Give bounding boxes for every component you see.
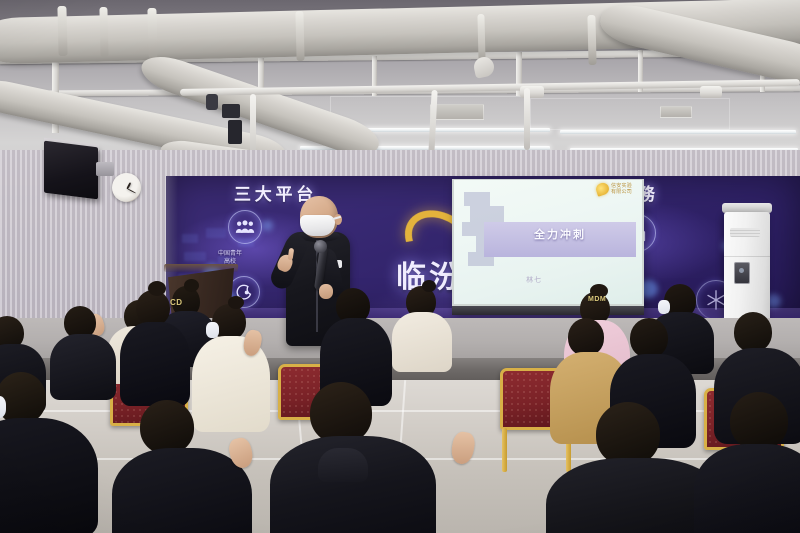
microphone-icon	[314, 240, 327, 253]
ac-grill	[730, 228, 760, 237]
screen-canvas: 全力冲刺 林七 信安实验 有限公司	[454, 180, 642, 304]
tech-pattern	[184, 252, 206, 261]
logo-mark-icon	[594, 182, 610, 197]
ceiling-grid	[530, 98, 730, 130]
vent-box	[660, 106, 692, 118]
vent-box	[430, 104, 484, 120]
attendee-torso	[50, 334, 116, 400]
attendee-torso	[694, 444, 800, 533]
wall-clock	[112, 173, 141, 202]
attendee-head	[630, 318, 668, 358]
duct-flange	[295, 11, 304, 61]
tech-pattern	[182, 234, 198, 243]
attendee-head	[310, 382, 372, 444]
attendee-head	[568, 318, 604, 356]
logo-text: 信安实验 有限公司	[611, 183, 632, 196]
duct-flange	[587, 15, 596, 65]
jacket-hood	[318, 448, 368, 482]
face-mask-icon	[206, 322, 219, 338]
duct-flange	[477, 14, 485, 62]
conference-hall-photo: 三大平台 三項核心服務 中国青年 高校 中国青年 工程 临汾	[0, 0, 800, 533]
face-mask-icon	[300, 215, 335, 236]
small-ceiling-device	[206, 94, 218, 110]
clock-minute-hand	[126, 188, 135, 194]
duct-flange	[147, 8, 157, 58]
attendee-torso	[392, 312, 452, 372]
small-ceiling-device	[222, 104, 240, 118]
pointing-finger-icon	[288, 248, 295, 261]
people-group-icon	[228, 210, 262, 244]
small-ceiling-device	[228, 120, 242, 144]
hair-clip-label: CD	[170, 298, 183, 307]
wall-bracket	[96, 162, 114, 176]
chair-leg	[502, 428, 507, 472]
slide-title: 全力冲刺	[484, 226, 636, 242]
attendee-torso	[112, 448, 252, 533]
blurred-block	[462, 222, 486, 236]
attendee-torso	[0, 418, 98, 533]
tube-light	[560, 130, 796, 134]
attendee-head	[0, 372, 46, 424]
hair-bun	[148, 281, 166, 296]
pipe-drop	[524, 88, 530, 150]
slide-subtitle: 林七	[484, 275, 584, 285]
blurred-block	[470, 206, 504, 222]
tech-pattern	[206, 228, 226, 238]
attendee-head	[730, 392, 788, 450]
ac-seam	[724, 256, 770, 257]
attendee-head	[140, 400, 194, 454]
pipe-coupling	[700, 86, 722, 98]
duct-flange	[99, 7, 108, 57]
ac-control-panel[interactable]	[734, 262, 750, 284]
duct-flange	[57, 6, 67, 56]
blurred-block	[464, 192, 490, 206]
presenter-right-hand	[319, 284, 333, 299]
ac-indicator-icon	[739, 268, 744, 273]
attendee-head	[734, 312, 772, 352]
wall-speaker	[44, 141, 98, 200]
slide-logo: 信安实验 有限公司	[596, 183, 632, 196]
attendee-torso	[120, 322, 190, 406]
logo-text-line2: 有限公司	[611, 189, 632, 195]
hair-clip-label: MDM	[588, 296, 606, 303]
attendee-head	[596, 402, 660, 466]
projection-screen: 全力冲刺 林七 信安实验 有限公司	[452, 179, 644, 315]
hair-bun	[422, 280, 436, 292]
hair-bun	[228, 296, 244, 309]
hair-bun	[184, 279, 199, 292]
screen-bottom-bar	[452, 306, 644, 315]
